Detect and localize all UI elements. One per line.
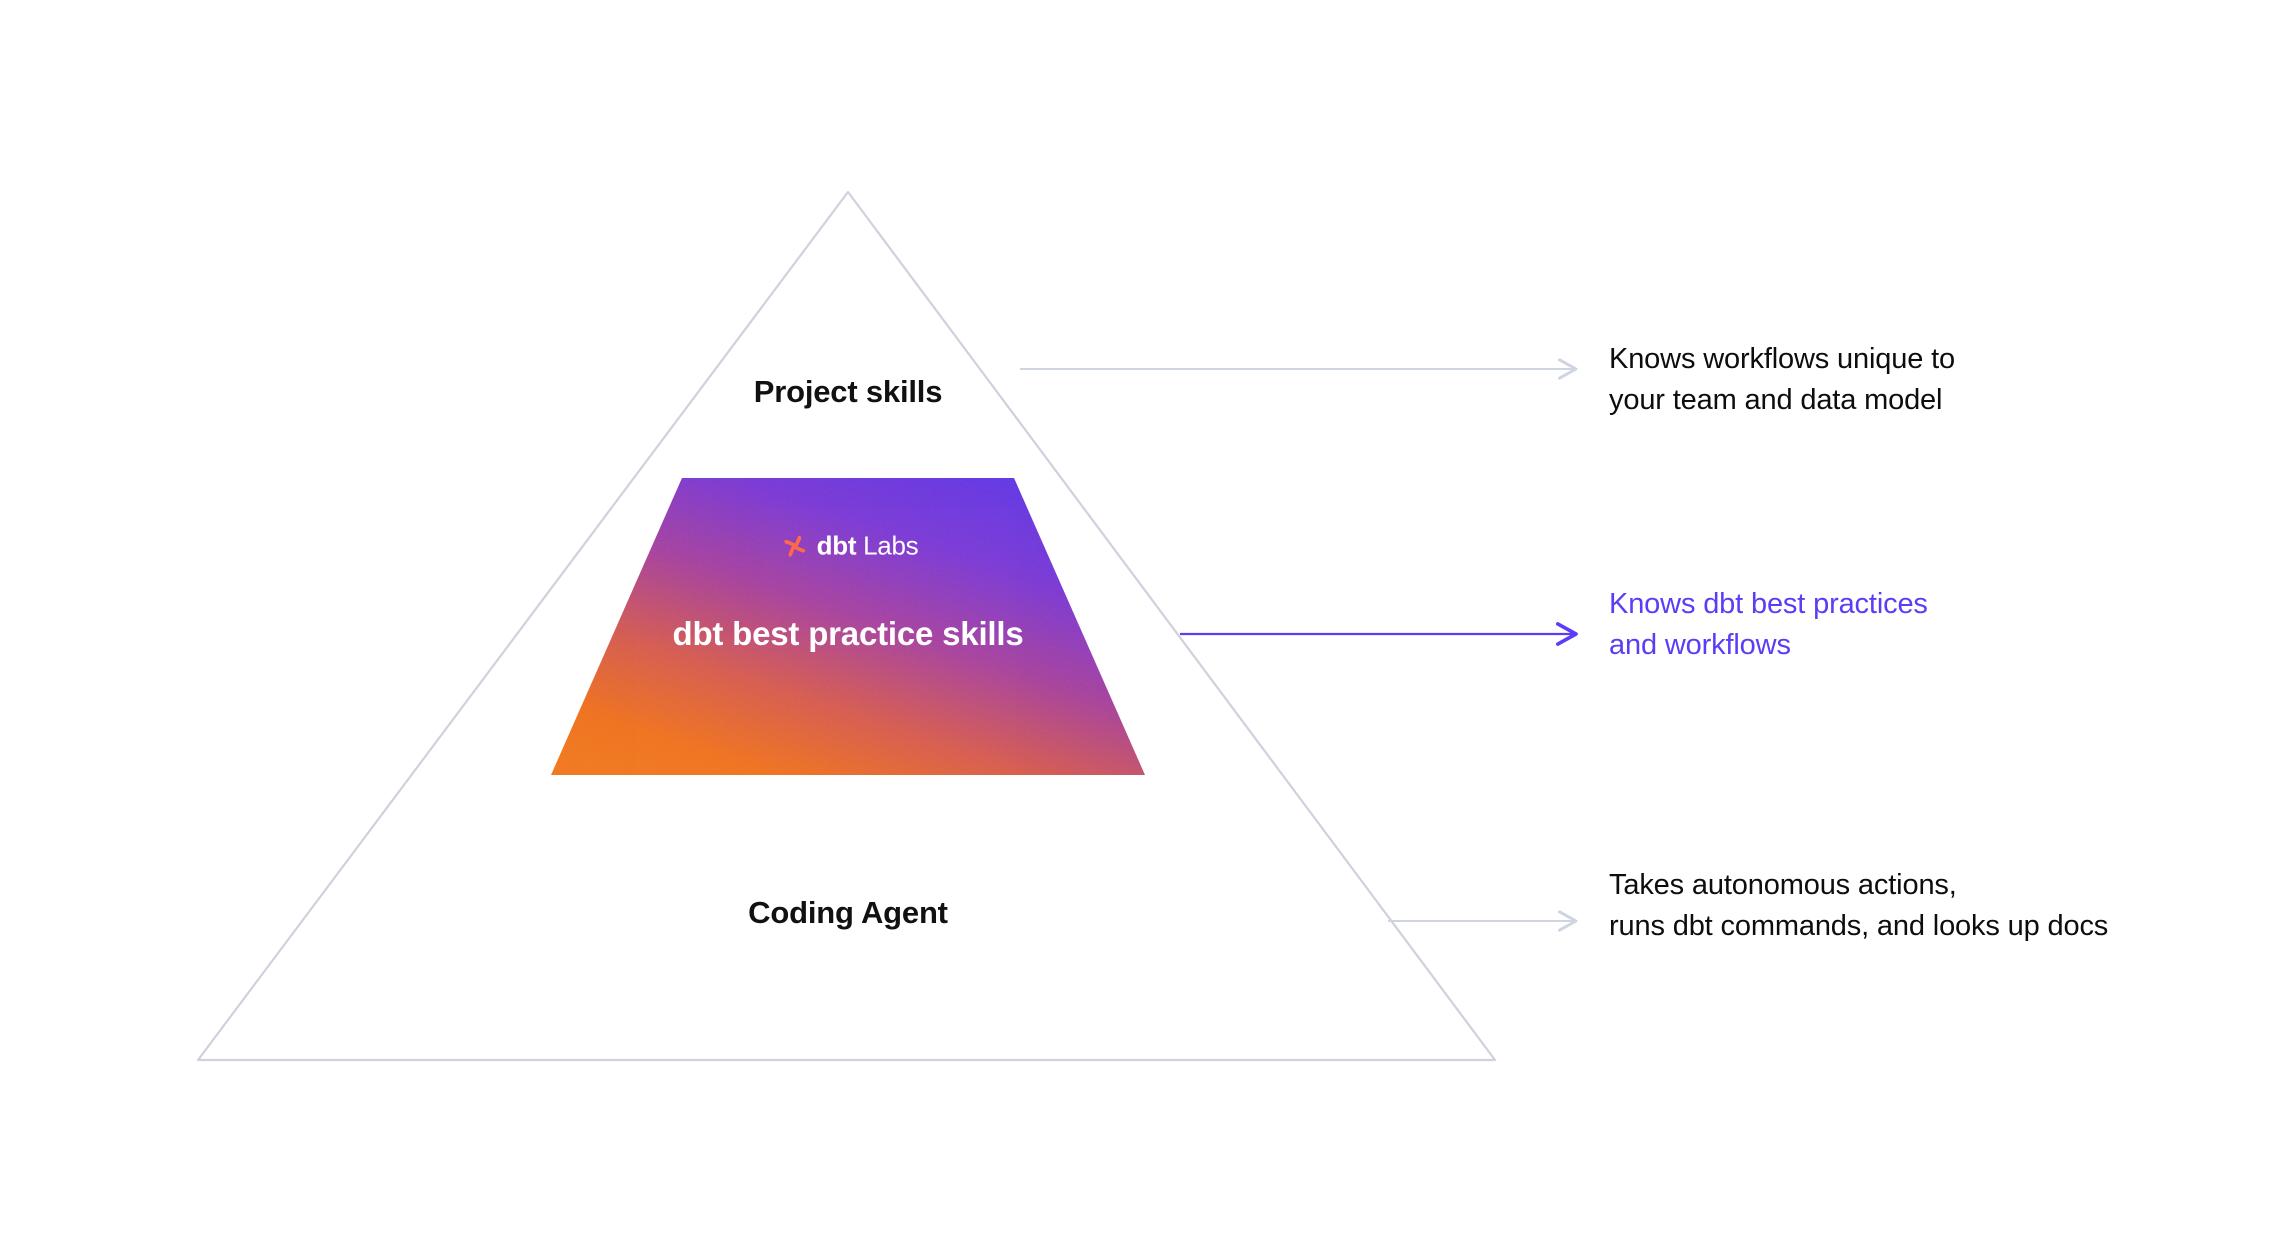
annotation-coding-agent: Takes autonomous actions, runs dbt comma… <box>1609 865 2108 947</box>
tier-label-project-skills: Project skills <box>754 374 942 410</box>
tier-label-coding-agent: Coding Agent <box>748 895 948 931</box>
dbt-labs-wordmark: dbt Labs <box>817 532 919 558</box>
annotation-line: your team and data model <box>1609 380 1955 421</box>
dbt-wordmark-bold: dbt <box>817 530 857 560</box>
annotation-line: runs dbt commands, and looks up docs <box>1609 906 2108 947</box>
dbt-labs-logo: dbt Labs <box>778 531 919 560</box>
tier-label-dbt-best-practice-skills: dbt best practice skills <box>673 615 1024 653</box>
annotation-line: Knows dbt best practices <box>1609 584 1928 625</box>
diagram-canvas: Project skills dbt best practice skills … <box>0 0 2272 1250</box>
annotation-line: Takes autonomous actions, <box>1609 865 2108 906</box>
annotation-line: Knows workflows unique to <box>1609 339 1955 380</box>
annotation-line: and workflows <box>1609 625 1928 666</box>
annotation-project-skills: Knows workflows unique to your team and … <box>1609 339 1955 421</box>
dbt-x-mark-icon <box>778 530 808 560</box>
dbt-wordmark-light: Labs <box>856 530 918 560</box>
annotation-dbt-best-practice-skills: Knows dbt best practices and workflows <box>1609 584 1928 666</box>
pyramid-graphic <box>0 0 2272 1250</box>
